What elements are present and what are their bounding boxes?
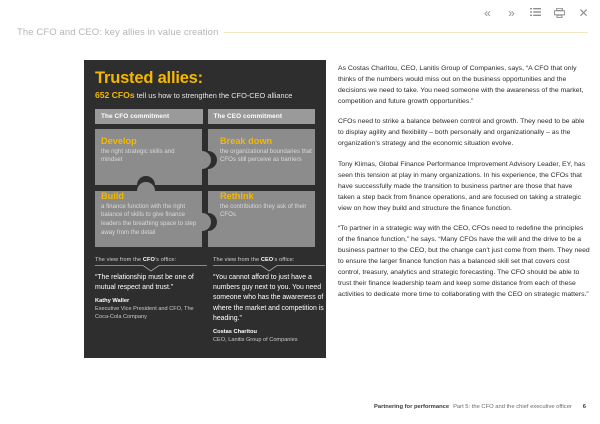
quote-pointer-ceo [213,265,325,271]
close-icon[interactable]: ✕ [577,6,590,19]
quote-pointer-cfo [95,265,207,271]
puzzle-piece-break-down: Break down the organizational boundaries… [220,136,316,165]
piece-body-build: a finance function with the right balanc… [101,203,197,238]
quote-section: The view from the CFO’s office: “The rel… [95,257,315,344]
quote-label-ceo-strong: CEO [261,257,273,263]
quote-text-cfo: “The relationship must be one of mutual … [95,273,207,293]
panel-title: Trusted allies: [95,70,315,87]
column-header-ceo: The CEO commitment [208,109,316,124]
quote-name-ceo: Costas Charitou [213,329,325,336]
article-body: As Costas Charitou, CEO, Lanitis Group o… [338,63,590,309]
quote-label-ceo-pre: The view from the [213,257,261,263]
quote-label-ceo: The view from the CEO’s office: [213,257,325,263]
body-paragraph-4: “To partner in a strategic way with the … [338,223,590,301]
piece-title-break-down: Break down [220,136,316,146]
quote-label-cfo-pre: The view from the [95,257,143,263]
puzzle-piece-build: Build a finance function with the right … [101,191,197,237]
quote-role-ceo: CEO, Lanitis Group of Companies [213,337,325,345]
quote-label-cfo-strong: CFO [143,257,155,263]
print-icon[interactable] [553,6,566,19]
quote-label-ceo-post: ’s office: [273,257,294,263]
infographic-panel: Trusted allies: 652 CFOs tell us how to … [84,60,326,358]
previous-icon[interactable]: « [481,6,494,19]
piece-body-break-down: the organizational boundaries that CFOs … [220,148,316,165]
page-number: 6 [583,404,586,410]
quote-ceo: The view from the CEO’s office: “You can… [213,257,325,344]
panel-subtitle-rest: tell us how to strengthen the CFO-CEO al… [137,91,293,100]
page-header: The CFO and CEO: key allies in value cre… [17,27,588,38]
contents-icon[interactable] [529,6,542,19]
quote-text-ceo: “You cannot afford to just have a number… [213,273,325,324]
panel-subtitle: 652 CFOs tell us how to strengthen the C… [95,90,315,101]
viewer-toolbar: « » ✕ [481,6,590,19]
document-page: « » ✕ The CFO and CEO: key allies in val… [0,0,600,424]
quote-name-cfo: Kathy Waller [95,298,207,305]
piece-body-develop: the right strategic skills and mindset [101,148,197,165]
piece-title-develop: Develop [101,136,197,146]
header-rule [224,32,588,33]
body-paragraph-2: CFOs need to strike a balance between co… [338,116,590,149]
puzzle-piece-develop: Develop the right strategic skills and m… [101,136,197,165]
body-paragraph-1: As Costas Charitou, CEO, Lanitis Group o… [338,63,590,107]
commitment-column-headers: The CFO commitment The CEO commitment [95,109,315,124]
piece-title-build: Build [101,191,197,201]
footer-title: Partnering for performance [374,404,449,410]
piece-body-rethink: the contribution they ask of their CFOs [220,203,316,220]
next-icon[interactable]: » [505,6,518,19]
piece-title-rethink: Rethink [220,191,316,201]
page-footer: Partnering for performance Part 5: the C… [374,404,586,410]
puzzle-piece-rethink: Rethink the contribution they ask of the… [220,191,316,220]
footer-subtitle: Part 5: the CFO and the chief executive … [453,404,572,410]
quote-label-cfo: The view from the CFO’s office: [95,257,207,263]
quote-cfo: The view from the CFO’s office: “The rel… [95,257,207,344]
column-header-cfo: The CFO commitment [95,109,203,124]
page-title: The CFO and CEO: key allies in value cre… [17,27,218,38]
body-paragraph-3: Tony Klimas, Global Finance Performance … [338,159,590,214]
quote-role-cfo: Executive Vice President and CFO, The Co… [95,306,207,321]
cfo-count: 652 CFOs [95,90,135,100]
quote-label-cfo-post: ’s office: [155,257,176,263]
puzzle-diagram: Develop the right strategic skills and m… [95,129,315,247]
